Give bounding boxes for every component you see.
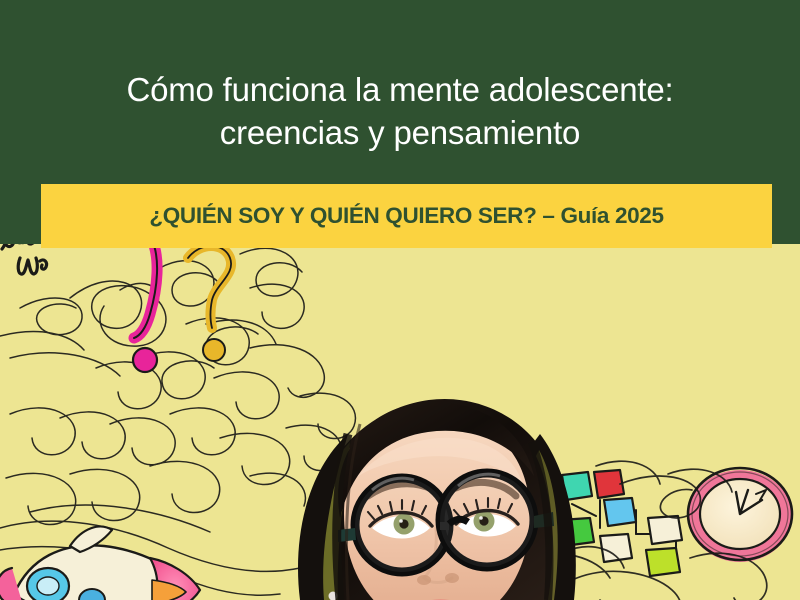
- subtitle-banner: ¿QUIÉN SOY Y QUIÉN QUIERO SER? – Guía 20…: [41, 184, 772, 248]
- page-title: Cómo funciona la mente adolescente: cree…: [0, 68, 800, 154]
- subtitle-text: ¿QUIÉN SOY Y QUIÉN QUIERO SER? – Guía 20…: [149, 205, 663, 228]
- hero-photo: [0, 228, 800, 600]
- article-header-card: Cómo funciona la mente adolescente: cree…: [0, 0, 800, 600]
- clock-doodle: [688, 468, 792, 562]
- page-title-line-1: Cómo funciona la mente adolescente:: [40, 68, 760, 111]
- page-title-line-2: creencias y pensamiento: [40, 111, 760, 154]
